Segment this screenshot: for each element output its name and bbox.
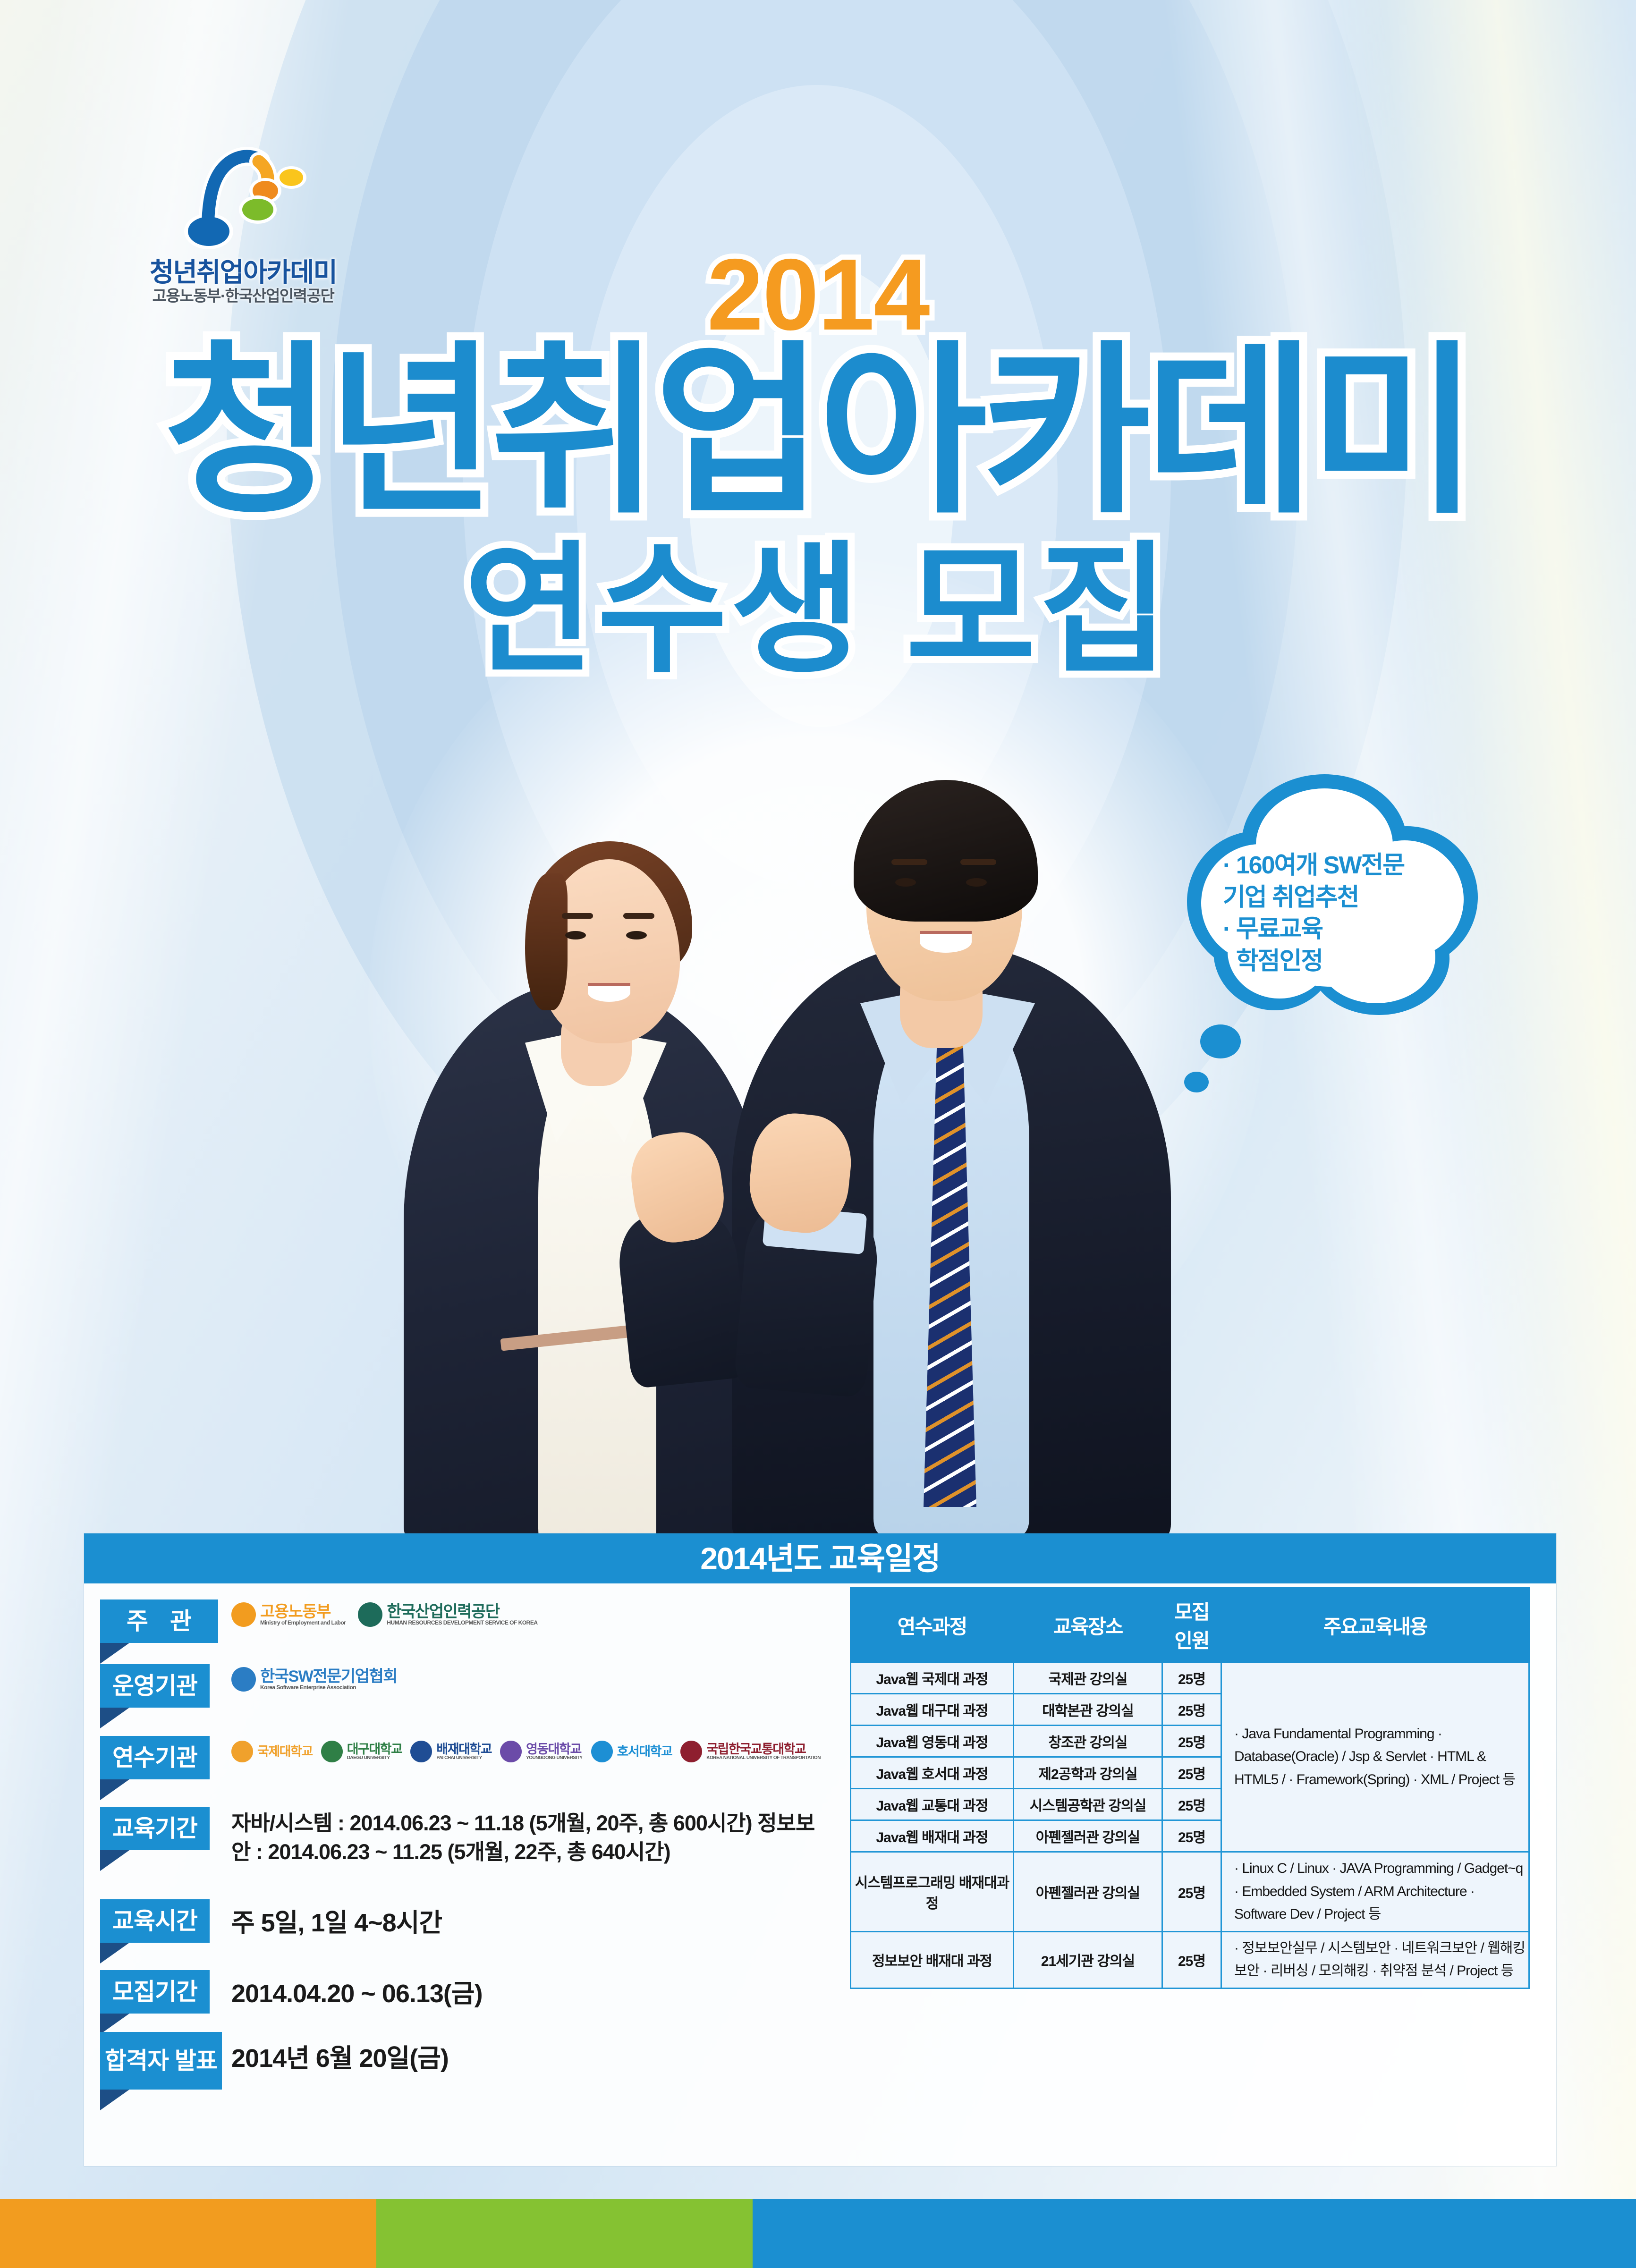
td-place: 제2공학과 강의실 [1014,1757,1162,1789]
partner-logo-icon [410,1741,432,1762]
td-course: Java웹 영동대 과정 [851,1726,1014,1757]
partner-logo-name-ko: 국제대학교 [257,1745,313,1758]
course-table-header-row: 연수과정 교육장소 모집 인원 주요교육내용 [851,1588,1529,1662]
info-row-label: 교육기간 [100,1807,210,1850]
partner-logo: 배재대학교PAI CHAI UNIVERSITY [410,1741,492,1762]
td-quota: 25명 [1162,1789,1221,1820]
td-quota: 25명 [1162,1820,1221,1852]
partner-logo-name-en: KOREA NATIONAL UNIVERSITY OF TRANSPORTAT… [706,1756,821,1760]
partner-logo-name-ko: 대구대학교 [347,1743,402,1756]
woman-hair-side [525,873,568,1010]
td-place: 아펜젤러관 강의실 [1014,1820,1162,1852]
td-course: 정보보안 배재대 과정 [851,1931,1014,1988]
footer-color-segment [0,2199,376,2268]
thought-bubble-dot-large [1200,1024,1241,1058]
partner-logo-name-ko: 한국SW전문기업협회 [260,1668,397,1684]
td-place: 21세기관 강의실 [1014,1931,1162,1988]
info-row: 운영기관한국SW전문기업협회Korea Software Enterprise … [90,1660,826,1732]
man-brow-left [891,859,927,865]
table-row: Java웹 국제대 과정국제관 강의실25명· Java Fundamental… [851,1662,1529,1694]
td-course: 시스템프로그래밍 배재대과정 [851,1852,1014,1932]
hero-title-line2: 연수생 모집 [0,536,1636,685]
partner-logo: 한국산업인력공단HUMAN RESOURCES DEVELOPMENT SERV… [358,1602,537,1627]
td-course: Java웹 대구대 과정 [851,1694,1014,1726]
course-table-body: Java웹 국제대 과정국제관 강의실25명· Java Fundamental… [851,1662,1529,1989]
td-quota: 25명 [1162,1726,1221,1757]
thought-bubble-dot-small [1184,1072,1209,1092]
partner-logo-name-ko: 고용노동부 [260,1604,346,1620]
info-row-label: 운영기관 [100,1664,210,1708]
partner-logo: 고용노동부Ministry of Employment and Labor [231,1602,346,1627]
info-list: 주관고용노동부Ministry of Employment and Labor한… [90,1596,826,2114]
partner-logo-name-en: YOUNGDONG UNIVERSITY [526,1756,582,1760]
man-mouth [920,931,972,953]
partner-logo-icon [321,1741,343,1762]
td-description: · 정보보안실무 / 시스템보안 · 네트워크보안 / 웹해킹보안 · 리버싱 … [1221,1931,1529,1988]
th-place: 교육장소 [1014,1588,1162,1662]
info-row: 교육기간자바/시스템 : 2014.06.23 ~ 11.18 (5개월, 20… [90,1803,826,1896]
td-quota: 25명 [1162,1694,1221,1726]
thought-bubble: · 160여개 SW전문 기업 취업추천 · 무료교육 · 학점인정 [1180,774,1483,1020]
info-row: 교육시간주 5일, 1일 4~8시간 [90,1896,826,1966]
partner-logo-row: 고용노동부Ministry of Employment and Labor한국산… [231,1602,538,1627]
partner-logo-row: 국제대학교대구대학교DAEGU UNIVERSITY배재대학교PAI CHAI … [231,1741,821,1762]
table-row: 시스템프로그래밍 배재대과정아펜젤러관 강의실25명· Linux C / Li… [851,1852,1529,1932]
info-row-fold [100,1943,129,1963]
man-brow-right [960,859,996,865]
info-row-fold [100,2090,129,2110]
td-quota: 25명 [1162,1662,1221,1694]
students-photo [359,718,1209,1549]
partner-logo-icon [231,1602,256,1627]
info-row-value: 2014.04.20 ~ 06.13(금) [231,1977,483,2011]
course-table: 연수과정 교육장소 모집 인원 주요교육내용 Java웹 국제대 과정국제관 강… [850,1587,1530,1989]
partner-logo-name-en: PAI CHAI UNIVERSITY [436,1756,492,1760]
info-row-value: 자바/시스템 : 2014.06.23 ~ 11.18 (5개월, 20주, 총… [231,1809,826,1866]
partner-logo-name-ko: 호서대학교 [617,1745,672,1758]
partner-logo-icon [358,1602,382,1627]
info-row-value: 2014년 6월 20일(금) [231,2041,449,2076]
info-row: 연수기관국제대학교대구대학교DAEGU UNIVERSITY배재대학교PAI C… [90,1732,826,1803]
info-row-label: 합격자 발표 [100,2032,222,2090]
info-row-label: 모집기간 [100,1970,210,2014]
partner-logo-name-ko: 배재대학교 [436,1743,492,1756]
info-row-label: 주관 [100,1599,218,1643]
course-table-head: 연수과정 교육장소 모집 인원 주요교육내용 [851,1588,1529,1662]
partner-logo: 국제대학교 [231,1741,313,1762]
info-row-fold [100,1850,129,1871]
partner-logo: 영동대학교YOUNGDONG UNIVERSITY [500,1741,582,1762]
info-row: 주관고용노동부Ministry of Employment and Labor한… [90,1596,826,1660]
td-place: 시스템공학관 강의실 [1014,1789,1162,1820]
th-description: 주요교육내용 [1221,1588,1529,1662]
partner-logo-name-ko: 한국산업인력공단 [387,1604,537,1620]
woman-eye-left [565,931,586,939]
td-place: 아펜젤러관 강의실 [1014,1852,1162,1932]
academy-logo-icon [179,142,307,250]
man-hair [854,780,1038,922]
partner-logo-icon [591,1741,613,1762]
td-place: 국제관 강의실 [1014,1662,1162,1694]
info-row-value: 주 5일, 1일 4~8시간 [231,1906,442,1940]
partner-logo: 호서대학교 [591,1741,672,1762]
partner-logo-name-ko: 영동대학교 [526,1743,582,1756]
info-row: 모집기간2014.04.20 ~ 06.13(금) [90,1966,826,2031]
td-course: Java웹 호서대 과정 [851,1757,1014,1789]
td-course: Java웹 배재대 과정 [851,1820,1014,1852]
schedule-panel-title: 2014년도 교육일정 [84,1533,1556,1583]
partner-logo-icon [231,1741,253,1762]
td-description: · Java Fundamental Programming · Databas… [1221,1662,1529,1852]
td-course: Java웹 교통대 과정 [851,1789,1014,1820]
partner-logo-name-en: Korea Software Enterprise Association [260,1684,397,1690]
th-quota: 모집 인원 [1162,1588,1221,1662]
partner-logo-icon [231,1667,256,1692]
partner-logo: 국립한국교통대학교KOREA NATIONAL UNIVERSITY OF TR… [680,1741,821,1762]
woman-brow-left [562,913,593,919]
footer-color-segment [376,2199,753,2268]
td-place: 대학본관 강의실 [1014,1694,1162,1726]
td-place: 창조관 강의실 [1014,1726,1162,1757]
td-quota: 25명 [1162,1852,1221,1932]
td-quota: 25명 [1162,1757,1221,1789]
info-row: 합격자 발표2014년 6월 20일(금) [90,2031,826,2114]
footer-color-bar [0,2199,1636,2268]
table-row: 정보보안 배재대 과정21세기관 강의실25명· 정보보안실무 / 시스템보안 … [851,1931,1529,1988]
info-row-label: 연수기관 [100,1736,210,1779]
partner-logo-name-en: Ministry of Employment and Labor [260,1620,346,1625]
partner-logo-icon [500,1741,522,1762]
partner-logo-icon [680,1741,702,1762]
partner-logo-name-en: DAEGU UNIVERSITY [347,1756,402,1760]
man-eye-left [895,878,916,887]
partner-logo: 한국SW전문기업협회Korea Software Enterprise Asso… [231,1667,397,1692]
partner-logo-row: 한국SW전문기업협회Korea Software Enterprise Asso… [231,1667,397,1692]
woman-brow-right [623,913,654,919]
man-eye-right [966,878,987,887]
partner-logo: 대구대학교DAEGU UNIVERSITY [321,1741,402,1762]
info-row-fold [100,1779,129,1800]
td-course: Java웹 국제대 과정 [851,1662,1014,1694]
partner-logo-name-en: HUMAN RESOURCES DEVELOPMENT SERVICE OF K… [387,1620,537,1625]
info-row-fold [100,1708,129,1728]
hero-title-line1: 청년취업아카데미 [0,335,1636,529]
woman-mouth [588,983,630,1002]
schedule-panel-header: 2014년도 교육일정 [84,1533,1556,1583]
td-description: · Linux C / Linux · JAVA Programming / G… [1221,1852,1529,1932]
woman-eye-right [626,931,647,939]
partner-logo-name-ko: 국립한국교통대학교 [706,1743,821,1756]
bubble-benefits-text: · 160여개 SW전문 기업 취업추천 · 무료교육 · 학점인정 [1223,850,1445,977]
td-quota: 25명 [1162,1931,1221,1988]
th-course: 연수과정 [851,1588,1014,1662]
info-row-label: 교육시간 [100,1899,210,1943]
footer-color-segment [753,2199,1636,2268]
